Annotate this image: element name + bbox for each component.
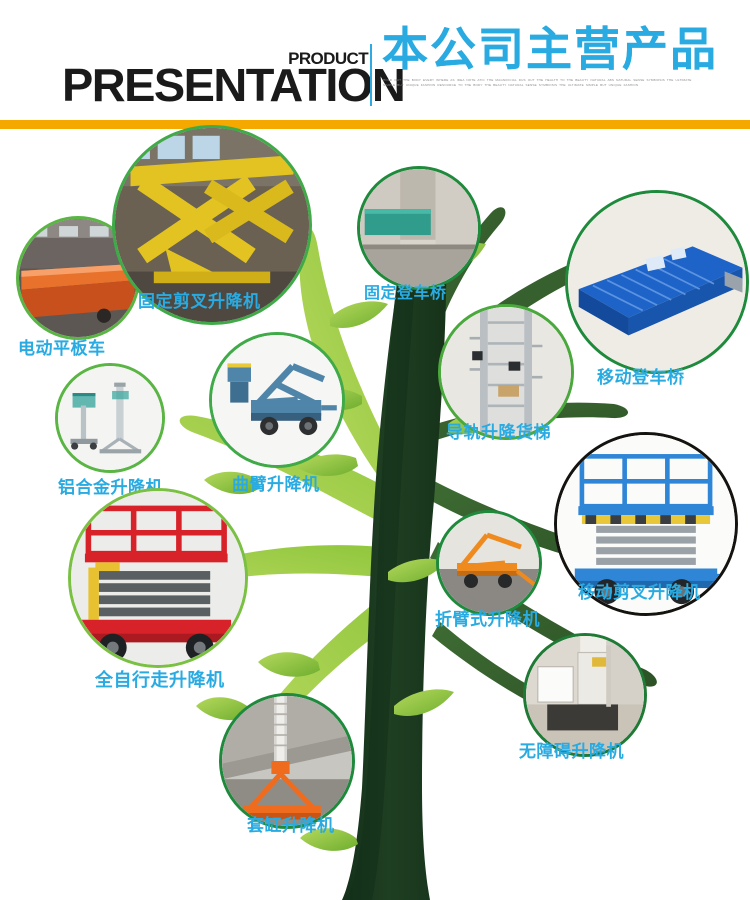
product-label-barrier-free-lift: 无障碍升降机: [519, 744, 624, 761]
product-image-telescopic-cylinder-lift: [222, 696, 352, 826]
chinese-title: 本公司主营产品: [382, 26, 718, 72]
product-label-fixed-scissor-lift: 固定剪叉升降机: [138, 294, 261, 311]
product-label-articulating-boom-lift: 曲臂升降机: [232, 477, 320, 494]
product-image-guide-rail-cargo-lift: [441, 307, 571, 437]
english-title-block: PRESENTATION PRODUCT: [62, 52, 372, 108]
product-image-articulating-boom-lift: [212, 335, 342, 465]
product-photo-articulating-boom-lift[interactable]: [209, 332, 345, 468]
product-photo-fixed-dock-leveler[interactable]: [357, 166, 481, 290]
product-label-telescopic-cylinder-lift: 套缸升降机: [247, 818, 335, 835]
product-label-self-propelled-lift: 全自行走升降机: [95, 672, 225, 690]
product-photo-telescopic-cylinder-lift[interactable]: [219, 693, 355, 829]
product-image-fixed-dock-leveler: [360, 169, 478, 287]
product-photo-barrier-free-lift[interactable]: [523, 633, 647, 757]
product-photo-aluminum-alloy-lift[interactable]: [55, 363, 165, 473]
product-image-folding-arm-lift: [439, 513, 539, 613]
header-subtext: HOLD OUT THE BODY EVERY WHERE AS IDEA NO…: [383, 78, 693, 88]
product-label-mobile-scissor-lift: 移动剪叉升降机: [578, 585, 701, 602]
page-title: PRESENTATION: [62, 62, 404, 108]
product-label-electric-flatbed-truck: 电动平板车: [18, 341, 106, 358]
product-presentation-page: PRESENTATION PRODUCT 本公司主营产品 HOLD OUT TH…: [0, 0, 750, 900]
product-photo-mobile-dock-ramp[interactable]: [565, 190, 749, 374]
page-title-kicker: PRODUCT: [288, 50, 368, 67]
product-label-fixed-dock-leveler: 固定登车桥: [364, 285, 447, 301]
product-photo-folding-arm-lift[interactable]: [436, 510, 542, 616]
product-label-folding-arm-lift: 折臂式升降机: [435, 612, 540, 629]
product-photo-self-propelled-lift[interactable]: [68, 488, 248, 668]
product-image-barrier-free-lift: [526, 636, 644, 754]
page-header: PRESENTATION PRODUCT 本公司主营产品 HOLD OUT TH…: [0, 0, 750, 120]
product-photo-guide-rail-cargo-lift[interactable]: [438, 304, 574, 440]
header-divider: [370, 44, 372, 106]
product-label-guide-rail-cargo-lift: 导轨升降货梯: [446, 425, 551, 442]
product-label-mobile-dock-ramp: 移动登车桥: [597, 370, 685, 387]
product-image-self-propelled-lift: [71, 491, 245, 665]
product-image-mobile-dock-ramp: [568, 193, 746, 371]
product-image-aluminum-alloy-lift: [58, 366, 162, 470]
